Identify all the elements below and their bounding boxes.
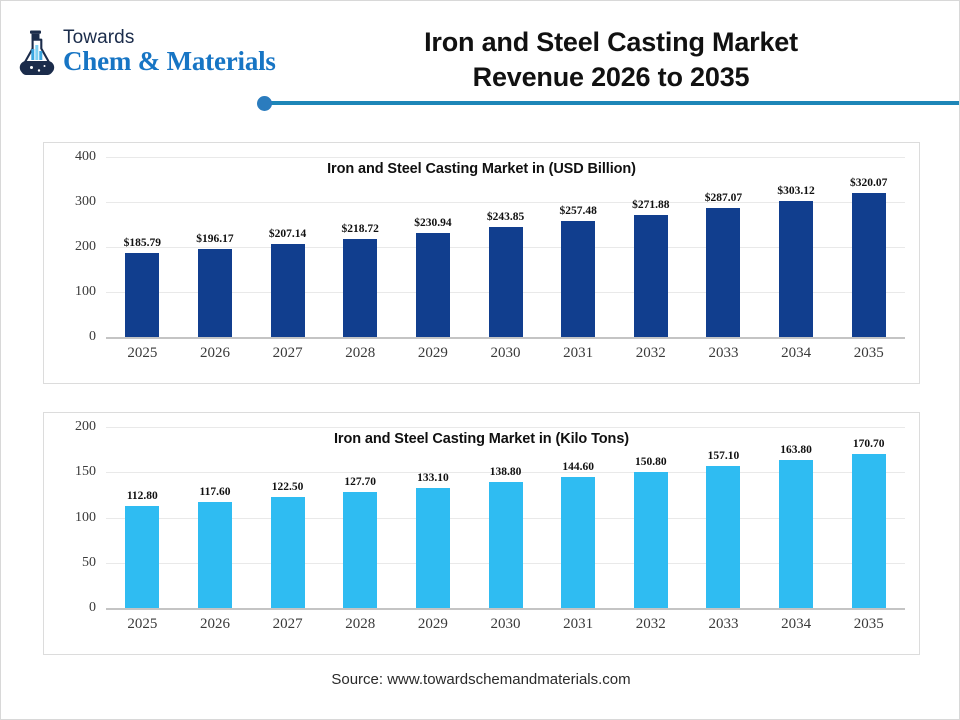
brand-line-1: Towards	[63, 28, 276, 47]
y-axis-labels: 200150100500	[44, 427, 102, 608]
bar-slot: $257.48	[542, 157, 615, 337]
bar-slot: 122.50	[251, 427, 324, 608]
bar[interactable]: 144.60	[561, 477, 595, 608]
bar-value-label: $218.72	[342, 223, 379, 235]
bar-value-label: 163.80	[780, 444, 812, 456]
x-axis-tick: 2035	[832, 345, 905, 371]
bar[interactable]: $271.88	[634, 215, 668, 337]
bar-slot: 150.80	[614, 427, 687, 608]
y-axis-tick: 0	[89, 329, 96, 345]
x-axis-tick: 2030	[469, 616, 542, 642]
page-title: Iron and Steel Casting Market Revenue 20…	[301, 25, 921, 94]
bar-value-label: $207.14	[269, 228, 306, 240]
x-axis-labels: 2025202620272028202920302031203220332034…	[106, 616, 905, 642]
brand-logo: Towards Chem & Materials	[15, 28, 276, 75]
source-caption: Source: www.towardschemandmaterials.com	[1, 671, 960, 688]
bar[interactable]: 170.70	[852, 454, 886, 608]
bar[interactable]: 157.10	[706, 466, 740, 608]
bar-value-label: 170.70	[853, 438, 885, 450]
bar-slot: 112.80	[106, 427, 179, 608]
x-axis-tick: 2026	[179, 616, 252, 642]
divider-line	[263, 101, 960, 105]
bar[interactable]: $243.85	[489, 227, 523, 337]
bar-value-label: 133.10	[417, 472, 449, 484]
x-axis-tick: 2033	[687, 616, 760, 642]
bar[interactable]: 163.80	[779, 460, 813, 608]
y-axis-tick: 400	[75, 149, 96, 165]
bar-slot: 117.60	[179, 427, 252, 608]
y-axis-tick: 50	[82, 555, 96, 571]
plot-area: 112.80117.60122.50127.70133.10138.80144.…	[106, 427, 905, 608]
bar-value-label: 112.80	[127, 490, 158, 502]
bar-series: $185.79$196.17$207.14$218.72$230.94$243.…	[106, 157, 905, 337]
bar-slot: 133.10	[397, 427, 470, 608]
bar[interactable]: $257.48	[561, 221, 595, 337]
bar-slot: $287.07	[687, 157, 760, 337]
x-axis-tick: 2029	[397, 345, 470, 371]
page-title-line-2: Revenue 2026 to 2035	[473, 62, 750, 92]
bar-slot: 170.70	[832, 427, 905, 608]
y-axis-tick: 100	[75, 510, 96, 526]
plot-area: $185.79$196.17$207.14$218.72$230.94$243.…	[106, 157, 905, 337]
bar[interactable]: 133.10	[416, 488, 450, 608]
page-title-line-1: Iron and Steel Casting Market	[424, 27, 798, 57]
bar-slot: $230.94	[397, 157, 470, 337]
x-axis-tick: 2032	[614, 616, 687, 642]
header-divider	[1, 95, 960, 111]
bar-value-label: $196.17	[196, 233, 233, 245]
bar[interactable]: $303.12	[779, 201, 813, 337]
bar-value-label: $320.07	[850, 177, 887, 189]
bar[interactable]: $287.07	[706, 208, 740, 337]
chart-panel-volume: Iron and Steel Casting Market in (Kilo T…	[43, 412, 920, 655]
bar-slot: $218.72	[324, 157, 397, 337]
bar-value-label: 150.80	[635, 456, 667, 468]
bar-series: 112.80117.60122.50127.70133.10138.80144.…	[106, 427, 905, 608]
bar-value-label: 138.80	[490, 466, 522, 478]
header: Towards Chem & Materials Iron and Steel …	[1, 1, 959, 97]
x-axis-tick: 2031	[542, 616, 615, 642]
y-axis-tick: 200	[75, 419, 96, 435]
y-axis-tick: 150	[75, 464, 96, 480]
y-axis-tick: 0	[89, 600, 96, 616]
bar-value-label: 117.60	[199, 486, 230, 498]
x-axis-tick: 2026	[179, 345, 252, 371]
bar-slot: $243.85	[469, 157, 542, 337]
x-axis-tick: 2032	[614, 345, 687, 371]
x-axis-tick: 2025	[106, 345, 179, 371]
bar-value-label: 144.60	[562, 461, 594, 473]
x-axis-tick: 2029	[397, 616, 470, 642]
axis-baseline	[106, 608, 905, 610]
x-axis-tick: 2025	[106, 616, 179, 642]
y-axis-tick: 100	[75, 284, 96, 300]
bar-slot: 163.80	[760, 427, 833, 608]
bar[interactable]: $230.94	[416, 233, 450, 337]
bar-slot: $303.12	[760, 157, 833, 337]
bar[interactable]: 112.80	[125, 506, 159, 608]
bar-slot: 144.60	[542, 427, 615, 608]
x-axis-tick: 2027	[251, 616, 324, 642]
x-axis-tick: 2035	[832, 616, 905, 642]
x-axis-tick: 2030	[469, 345, 542, 371]
x-axis-tick: 2027	[251, 345, 324, 371]
x-axis-labels: 2025202620272028202920302031203220332034…	[106, 345, 905, 371]
y-axis-tick: 300	[75, 194, 96, 210]
infographic-page: Towards Chem & Materials Iron and Steel …	[0, 0, 960, 720]
bar-value-label: $287.07	[705, 192, 742, 204]
y-axis-tick: 200	[75, 239, 96, 255]
bar-slot: $185.79	[106, 157, 179, 337]
bar-slot: $207.14	[251, 157, 324, 337]
flask-bar-chart-icon	[15, 29, 59, 75]
bar[interactable]: 127.70	[343, 492, 377, 608]
bar-value-label: $303.12	[777, 185, 814, 197]
brand-wordmark: Towards Chem & Materials	[63, 28, 276, 75]
bar-value-label: $257.48	[559, 205, 596, 217]
bar[interactable]: 122.50	[271, 497, 305, 608]
bar-value-label: $230.94	[414, 217, 451, 229]
bar[interactable]: $196.17	[198, 249, 232, 337]
bar[interactable]: $218.72	[343, 239, 377, 337]
x-axis-tick: 2034	[760, 616, 833, 642]
chart-panel-revenue: Iron and Steel Casting Market in (USD Bi…	[43, 142, 920, 384]
brand-line-2: Chem & Materials	[63, 48, 276, 75]
bar-slot: $196.17	[179, 157, 252, 337]
bar-value-label: $271.88	[632, 199, 669, 211]
x-axis-tick: 2033	[687, 345, 760, 371]
divider-dot-icon	[257, 96, 272, 111]
bar[interactable]: 150.80	[634, 472, 668, 608]
x-axis-tick: 2028	[324, 345, 397, 371]
bar-slot: 127.70	[324, 427, 397, 608]
x-axis-tick: 2034	[760, 345, 833, 371]
bar[interactable]: $207.14	[271, 244, 305, 337]
x-axis-tick: 2031	[542, 345, 615, 371]
bar-slot: 157.10	[687, 427, 760, 608]
x-axis-tick: 2028	[324, 616, 397, 642]
axis-baseline	[106, 337, 905, 339]
bar-slot: $320.07	[832, 157, 905, 337]
bar-value-label: 122.50	[272, 481, 304, 493]
bar-slot: 138.80	[469, 427, 542, 608]
bar-value-label: 127.70	[344, 476, 376, 488]
bar[interactable]: 117.60	[198, 502, 232, 608]
bar-value-label: $243.85	[487, 211, 524, 223]
bar-value-label: 157.10	[708, 450, 740, 462]
bar[interactable]: 138.80	[489, 482, 523, 608]
bar[interactable]: $185.79	[125, 253, 159, 337]
bar-value-label: $185.79	[124, 237, 161, 249]
y-axis-labels: 4003002001000	[44, 157, 102, 337]
bar[interactable]: $320.07	[852, 193, 886, 337]
bar-slot: $271.88	[614, 157, 687, 337]
